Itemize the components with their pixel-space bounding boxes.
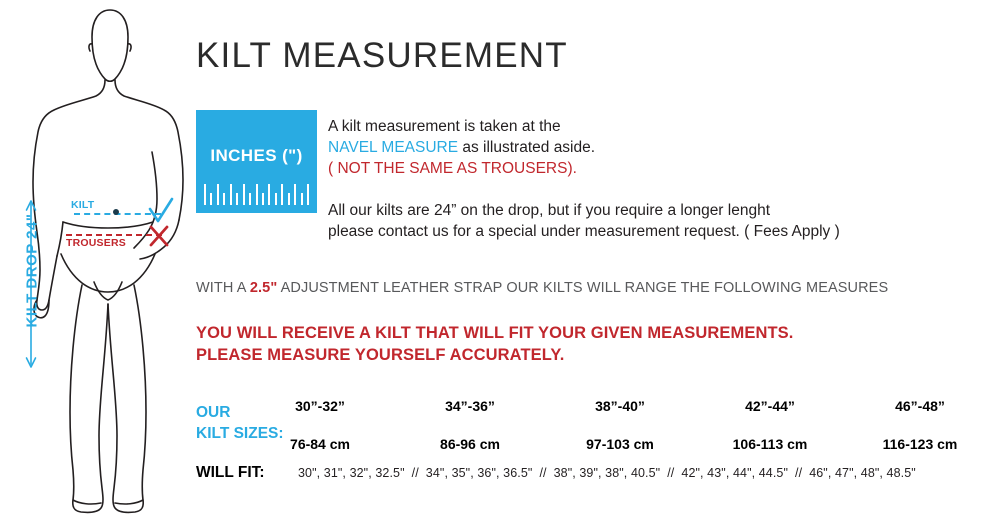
will-fit-group-1: 30", 31", 32", 32.5" bbox=[298, 466, 405, 480]
trousers-line-label: TROUSERS bbox=[66, 237, 126, 249]
cross-mark-icon bbox=[148, 224, 170, 248]
navel-measure-paragraph: A kilt measurement is taken at the NAVEL… bbox=[328, 116, 748, 179]
size-cm: 106-113 cm bbox=[695, 436, 845, 452]
ruler-ticks-icon bbox=[204, 179, 309, 205]
size-inches: 34”-36” bbox=[395, 398, 545, 414]
adjustment-strap-note: WITH A 2.5" ADJUSTMENT LEATHER STRAP OUR… bbox=[196, 280, 888, 296]
size-cm: 97-103 cm bbox=[545, 436, 695, 452]
ruler-tick bbox=[204, 184, 206, 205]
will-fit-row: WILL FIT: 30", 31", 32", 32.5"//34", 35"… bbox=[195, 464, 1000, 488]
size-cm: 116-123 cm bbox=[845, 436, 995, 452]
check-mark-icon bbox=[148, 196, 174, 226]
ruler-tick bbox=[236, 193, 238, 205]
will-fit-separator: // bbox=[405, 466, 426, 480]
kilt-sizes-row: OUR KILT SIZES: 30”-32”76-84 cm34”-36”86… bbox=[195, 398, 1000, 458]
male-body-silhouette-icon bbox=[28, 4, 188, 527]
ruler-tick bbox=[275, 193, 277, 205]
inches-swatch: INCHES (") bbox=[196, 110, 317, 213]
not-same-as-trousers-note: ( NOT THE SAME AS TROUSERS). bbox=[328, 160, 577, 177]
size-inches: 42”-44” bbox=[695, 398, 845, 414]
warning-line-1: YOU WILL RECEIVE A KILT THAT WILL FIT YO… bbox=[196, 322, 793, 344]
size-column-3: 38”-40”97-103 cm bbox=[545, 398, 695, 452]
navel-measure-emphasis: NAVEL MEASURE bbox=[328, 139, 458, 156]
strap-size-value: 2.5" bbox=[250, 280, 277, 296]
size-inches: 30”-32” bbox=[245, 398, 395, 414]
ruler-tick bbox=[256, 184, 258, 205]
will-fit-separator: // bbox=[788, 466, 809, 480]
navel-text-before: A kilt measurement is taken at the bbox=[328, 118, 561, 135]
will-fit-label: WILL FIT: bbox=[196, 464, 265, 482]
drop-line-1: All our kilts are 24” on the drop, but i… bbox=[328, 202, 770, 219]
will-fit-separator: // bbox=[532, 466, 553, 480]
size-cm: 86-96 cm bbox=[395, 436, 545, 452]
measurement-warning: YOU WILL RECEIVE A KILT THAT WILL FIT YO… bbox=[196, 322, 793, 366]
ruler-tick bbox=[243, 184, 245, 205]
size-inches: 46”-48” bbox=[845, 398, 995, 414]
ruler-tick bbox=[210, 193, 212, 205]
warning-line-2: PLEASE MEASURE YOURSELF ACCURATELY. bbox=[196, 344, 793, 366]
size-inches: 38”-40” bbox=[545, 398, 695, 414]
ruler-tick bbox=[268, 184, 270, 205]
ruler-tick bbox=[294, 184, 296, 205]
size-column-1: 30”-32”76-84 cm bbox=[245, 398, 395, 452]
navel-point-marker bbox=[113, 209, 119, 215]
kilt-drop-label: KILT DROP 24" bbox=[24, 191, 41, 351]
will-fit-group-3: 38", 39", 38", 40.5" bbox=[554, 466, 661, 480]
measurement-illustration: KILT TROUSERS KILT DROP 24" bbox=[0, 0, 195, 531]
size-column-4: 42”-44”106-113 cm bbox=[695, 398, 845, 452]
ruler-tick bbox=[230, 184, 232, 205]
page-title: KILT MEASUREMENT bbox=[196, 36, 568, 76]
size-column-2: 34”-36”86-96 cm bbox=[395, 398, 545, 452]
ruler-tick bbox=[223, 193, 225, 205]
size-column-5: 46”-48”116-123 cm bbox=[845, 398, 995, 452]
inches-label: INCHES (") bbox=[196, 146, 317, 166]
ruler-tick bbox=[249, 193, 251, 205]
ruler-tick bbox=[301, 193, 303, 205]
ruler-tick bbox=[217, 184, 219, 205]
kilt-size-table: OUR KILT SIZES: 30”-32”76-84 cm34”-36”86… bbox=[195, 398, 1000, 488]
ruler-tick bbox=[307, 184, 309, 205]
ruler-tick bbox=[281, 184, 283, 205]
ruler-tick bbox=[262, 193, 264, 205]
will-fit-group-4: 42", 43", 44", 44.5" bbox=[681, 466, 788, 480]
kilt-line-label: KILT bbox=[71, 199, 94, 211]
will-fit-group-2: 34", 35", 36", 36.5" bbox=[426, 466, 533, 480]
strap-text-after: ADJUSTMENT LEATHER STRAP OUR KILTS WILL … bbox=[277, 280, 888, 296]
drop-line-2: please contact us for a special under me… bbox=[328, 223, 840, 240]
navel-text-after: as illustrated aside. bbox=[458, 139, 595, 156]
size-cm: 76-84 cm bbox=[245, 436, 395, 452]
will-fit-values: 30", 31", 32", 32.5"//34", 35", 36", 36.… bbox=[298, 466, 916, 480]
content-column: KILT MEASUREMENT INCHES (") A kilt measu… bbox=[195, 0, 1000, 531]
ruler-tick bbox=[288, 193, 290, 205]
will-fit-separator: // bbox=[660, 466, 681, 480]
will-fit-group-5: 46", 47", 48", 48.5" bbox=[809, 466, 916, 480]
strap-text-before: WITH A bbox=[196, 280, 250, 296]
kilt-drop-paragraph: All our kilts are 24” on the drop, but i… bbox=[328, 200, 1000, 242]
